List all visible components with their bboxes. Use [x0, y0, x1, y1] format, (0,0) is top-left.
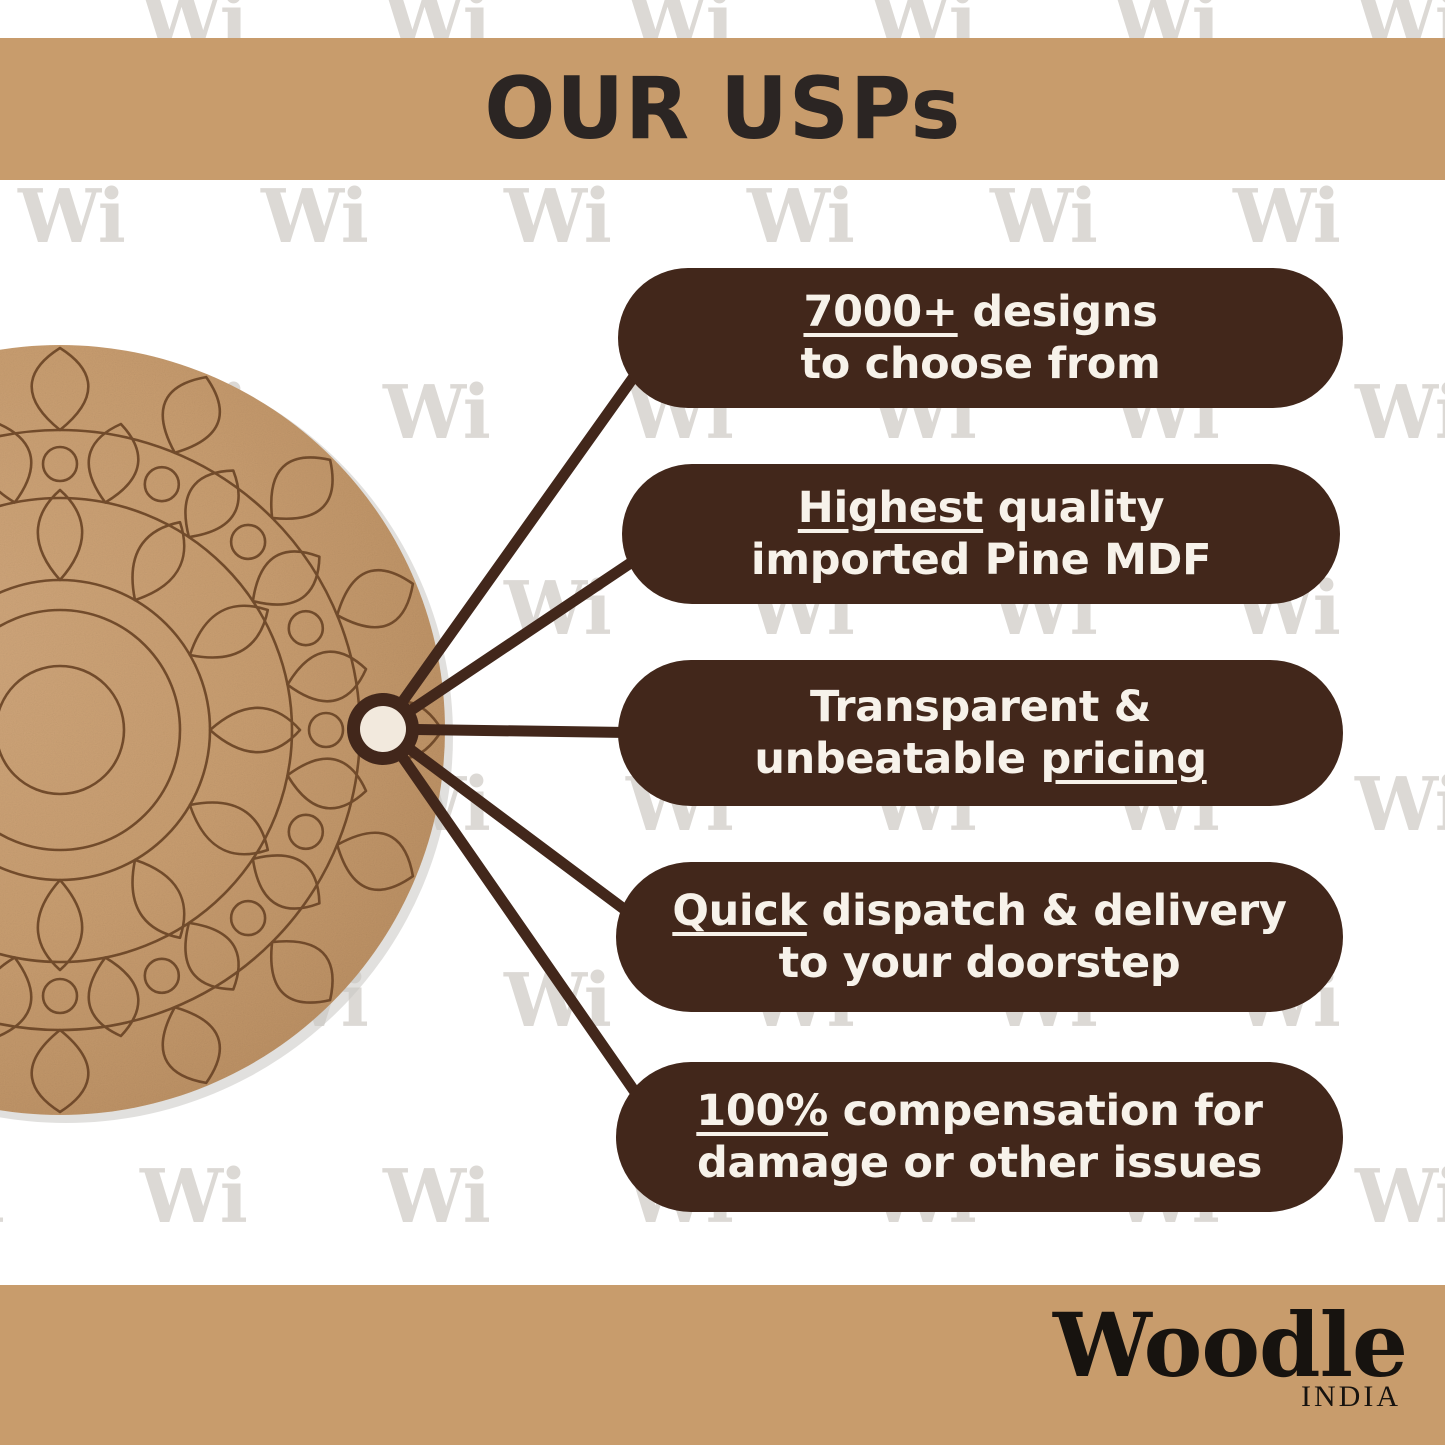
usp-pill-designs-count[interactable]: 7000+ designsto choose from: [618, 268, 1343, 408]
usp-pill-dispatch-delivery[interactable]: Quick dispatch & deliveryto your doorste…: [616, 862, 1343, 1012]
usp-pill-material-quality[interactable]: Highest qualityimported Pine MDF: [622, 464, 1340, 604]
usp-pill-text-4: Quick dispatch & deliveryto your doorste…: [672, 885, 1286, 990]
page-title: OUR USPs: [0, 38, 1445, 180]
page-title-text: OUR USPs: [484, 66, 961, 152]
hub-node-center: [360, 706, 406, 752]
usp-pill-text-2: Highest qualityimported Pine MDF: [751, 482, 1211, 587]
connector-line-1: [383, 340, 660, 729]
usp-pill-text-1: 7000+ designsto choose from: [800, 286, 1160, 391]
brand-logo-word: Woodle: [1053, 1305, 1407, 1386]
brand-logo: Woodle INDIA: [1053, 1305, 1407, 1414]
usp-pill-compensation[interactable]: 100% compensation fordamage or other iss…: [616, 1062, 1343, 1212]
usp-infographic: WiWiWiWiWiWiWiWiWiWiWiWiWiWiWiWiWiWiWiWi…: [0, 0, 1445, 1445]
usp-pill-text-3: Transparent &unbeatable pricing: [754, 681, 1206, 786]
usp-pill-text-5: 100% compensation fordamage or other iss…: [696, 1085, 1262, 1190]
usp-pill-pricing[interactable]: Transparent &unbeatable pricing: [618, 660, 1343, 806]
